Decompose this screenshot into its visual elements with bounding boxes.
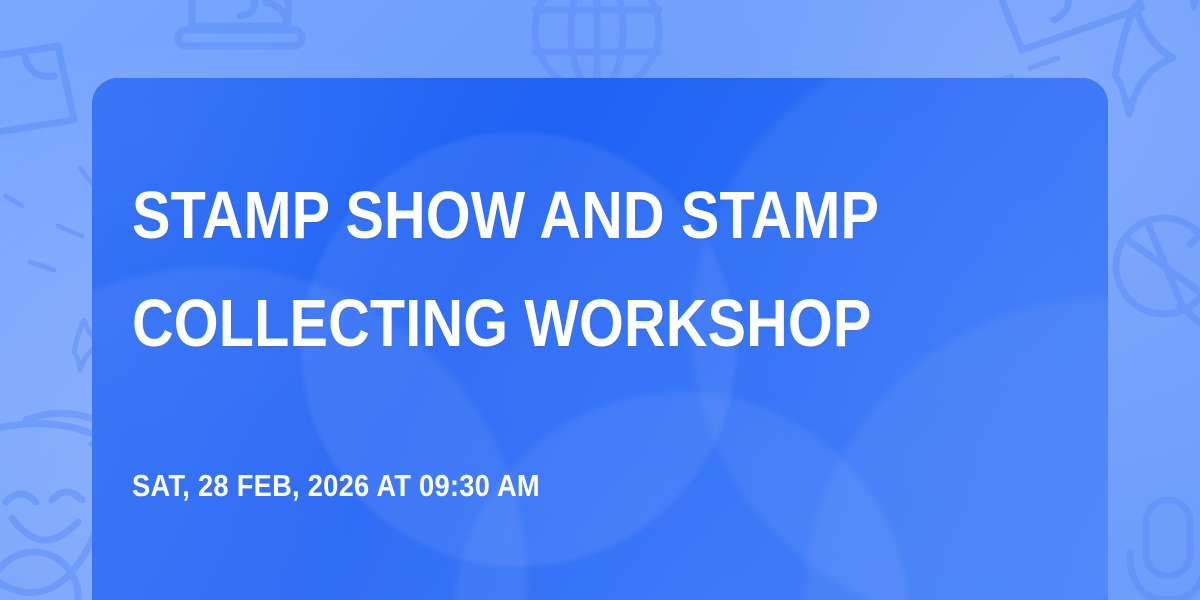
balloon-icon: [1116, 218, 1200, 330]
card-content: STAMP SHOW AND STAMP COLLECTING WORKSHOP…: [132, 78, 1068, 600]
sparkle-icon: [1115, 6, 1173, 114]
event-banner: STAMP SHOW AND STAMP COLLECTING WORKSHOP…: [0, 0, 1200, 600]
laptop-icon: [178, 0, 302, 46]
event-title: STAMP SHOW AND STAMP COLLECTING WORKSHOP: [132, 162, 879, 378]
event-card: STAMP SHOW AND STAMP COLLECTING WORKSHOP…: [92, 78, 1108, 600]
sparkle-icon: [1186, 0, 1200, 8]
event-datetime: SAT, 28 FEB, 2026 AT 09:30 AM: [132, 467, 540, 505]
confetti-icon: [6, 168, 94, 270]
microphone-icon: [1130, 500, 1200, 600]
ticket-icon: [0, 46, 74, 136]
